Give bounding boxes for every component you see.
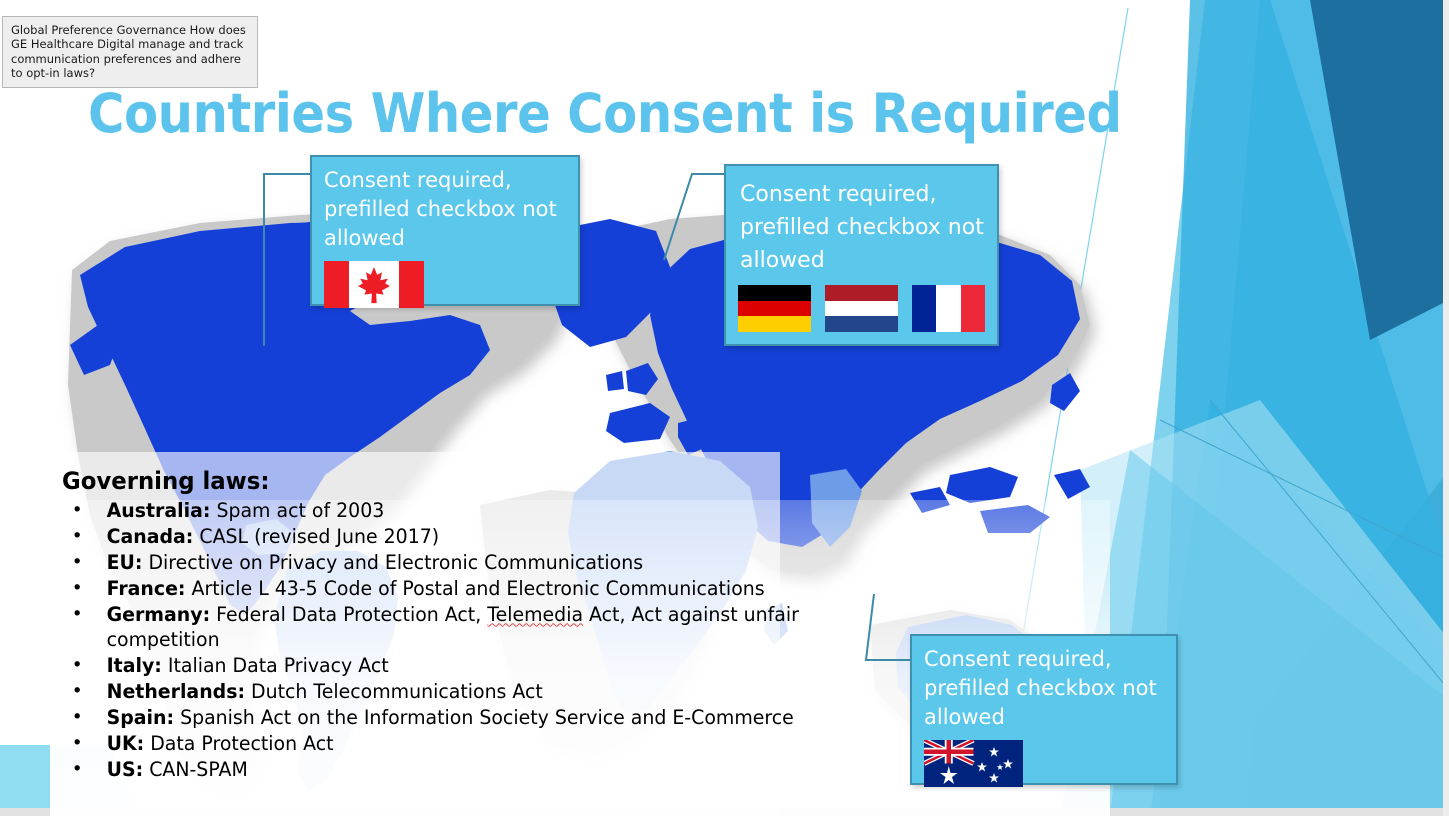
governing-laws-item: •Italy: Italian Data Privacy Act xyxy=(62,653,799,678)
governing-laws-item: •Spain: Spanish Act on the Information S… xyxy=(62,705,799,730)
list-bullet-icon: • xyxy=(72,602,83,627)
governing-laws-block: Governing laws: •Australia: Spam act of … xyxy=(62,466,822,782)
governing-laws-list: •Australia: Spam act of 2003•Canada: CAS… xyxy=(62,498,822,782)
governing-laws-item: •US: CAN-SPAM xyxy=(62,757,799,782)
list-bullet-icon: • xyxy=(72,653,83,678)
list-bullet-icon: • xyxy=(72,576,83,601)
australia-flag-svg xyxy=(924,740,1023,787)
maple-leaf-icon xyxy=(357,265,391,305)
callout-australia: Consent required, prefilled checkbox not… xyxy=(910,634,1178,785)
governing-laws-item: •UK: Data Protection Act xyxy=(62,731,799,756)
governing-laws-country: Canada: xyxy=(107,525,194,548)
governing-laws-text: Spam act of 2003 xyxy=(210,499,384,522)
governing-laws-text: Italian Data Privacy Act xyxy=(162,654,389,677)
governing-laws-item: •Germany: Federal Data Protection Act, T… xyxy=(62,602,799,653)
spellcheck-flagged-word: Telemedia xyxy=(487,603,583,626)
governing-laws-text: Data Protection Act xyxy=(144,732,333,755)
governing-laws-text: CASL (revised June 2017) xyxy=(193,525,439,548)
callout-europe: Consent required, prefilled checkbox not… xyxy=(724,164,999,346)
callout-europe-flags xyxy=(726,279,997,344)
governing-laws-country: EU: xyxy=(107,551,143,574)
governing-laws-country: US: xyxy=(107,758,144,781)
germany-flag xyxy=(738,285,811,332)
callout-australia-text: Consent required, prefilled checkbox not… xyxy=(912,636,1176,734)
governing-laws-country: Australia: xyxy=(107,499,211,522)
governing-laws-country: France: xyxy=(107,577,186,600)
governing-laws-country: UK: xyxy=(107,732,145,755)
callout-canada-flags xyxy=(312,255,578,320)
governing-laws-item: •EU: Directive on Privacy and Electronic… xyxy=(62,550,799,575)
governing-laws-country: Germany: xyxy=(107,603,211,626)
callout-canada-text: Consent required, prefilled checkbox not… xyxy=(312,157,578,255)
list-bullet-icon: • xyxy=(72,498,83,523)
governing-laws-country: Netherlands: xyxy=(107,680,245,703)
governing-laws-country: Spain: xyxy=(107,706,174,729)
governing-laws-text: Spanish Act on the Information Society S… xyxy=(174,706,794,729)
page-title: Countries Where Consent is Required xyxy=(88,82,1122,145)
list-bullet-icon: • xyxy=(72,731,83,756)
governing-laws-heading: Governing laws: xyxy=(62,466,784,496)
slide-notes-tooltip: Global Preference Governance How does GE… xyxy=(2,16,258,88)
governing-laws-text: CAN-SPAM xyxy=(143,758,248,781)
list-bullet-icon: • xyxy=(72,679,83,704)
governing-laws-text: Dutch Telecommunications Act xyxy=(245,680,543,703)
france-flag xyxy=(912,285,985,332)
governing-laws-text: Directive on Privacy and Electronic Comm… xyxy=(142,551,643,574)
list-bullet-icon: • xyxy=(72,705,83,730)
callout-canada: Consent required, prefilled checkbox not… xyxy=(310,155,580,306)
list-bullet-icon: • xyxy=(72,757,83,782)
governing-laws-country: Italy: xyxy=(107,654,162,677)
canada-flag xyxy=(324,261,424,308)
governing-laws-text: Article L 43-5 Code of Postal and Electr… xyxy=(186,577,765,600)
governing-laws-item: •France: Article L 43-5 Code of Postal a… xyxy=(62,576,799,601)
governing-laws-item: •Canada: CASL (revised June 2017) xyxy=(62,524,799,549)
presentation-slide: Global Preference Governance How does GE… xyxy=(0,0,1449,816)
callout-australia-flags xyxy=(912,734,1176,799)
tooltip-text: Global Preference Governance How does GE… xyxy=(11,23,246,80)
list-bullet-icon: • xyxy=(72,524,83,549)
governing-laws-item: •Australia: Spam act of 2003 xyxy=(62,498,799,523)
list-bullet-icon: • xyxy=(72,550,83,575)
callout-europe-text: Consent required, prefilled checkbox not… xyxy=(726,166,997,279)
australia-flag xyxy=(924,740,1023,787)
governing-laws-item: •Netherlands: Dutch Telecommunications A… xyxy=(62,679,799,704)
netherlands-flag xyxy=(825,285,898,332)
